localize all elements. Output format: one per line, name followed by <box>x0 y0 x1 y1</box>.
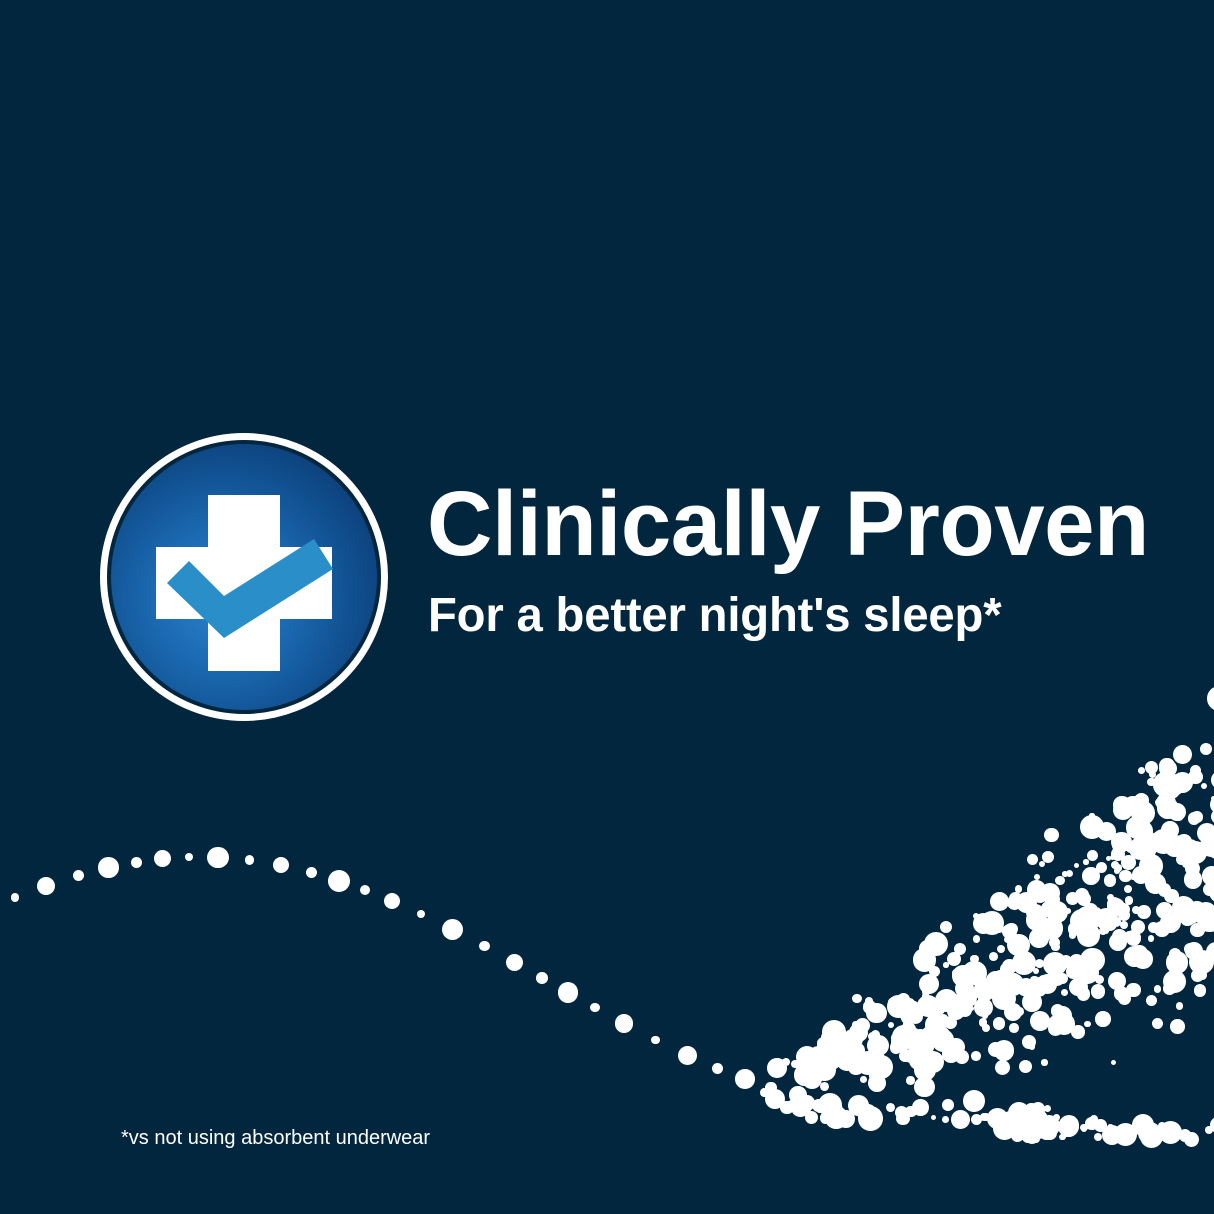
wave-dot <box>1133 872 1142 881</box>
wave-dot <box>98 857 118 877</box>
wave-dot <box>860 1076 867 1083</box>
wave-dot <box>837 1110 855 1128</box>
wave-dot <box>995 924 1004 933</box>
wave-dot <box>1004 1112 1013 1121</box>
wave-dot <box>1001 1111 1020 1130</box>
wave-dot <box>909 1035 923 1049</box>
wave-dot <box>1034 911 1043 920</box>
wave-dot <box>1173 745 1192 764</box>
page-title: Clinically Proven <box>427 478 1149 570</box>
wave-dot <box>1111 832 1131 852</box>
wave-dot <box>1048 1021 1063 1036</box>
wave-dot <box>1176 834 1192 850</box>
wave-dot <box>1088 907 1103 922</box>
wave-dot <box>1189 950 1214 975</box>
wave-dot <box>1179 1129 1191 1141</box>
wave-dot <box>946 1038 964 1056</box>
wave-dot <box>1076 961 1099 984</box>
wave-dot <box>1172 896 1195 919</box>
wave-dot <box>1128 859 1136 867</box>
wave-dot <box>678 1046 697 1065</box>
wave-dot <box>1048 1015 1066 1033</box>
wave-dot <box>1027 901 1034 908</box>
wave-dot <box>899 1000 923 1024</box>
wave-dot <box>1071 1025 1084 1038</box>
wave-dot <box>1114 1123 1137 1146</box>
wave-dot <box>888 1022 894 1028</box>
wave-dot <box>867 1035 889 1057</box>
wave-dot <box>1049 970 1065 986</box>
wave-dot <box>1126 983 1140 997</box>
wave-dot <box>1137 905 1151 919</box>
wave-dot <box>1161 821 1179 839</box>
wave-dot <box>1206 836 1214 859</box>
wave-dot <box>1041 901 1057 917</box>
wave-dot <box>1184 870 1202 888</box>
wave-dot <box>1018 984 1030 996</box>
wave-dot <box>816 1106 823 1113</box>
wave-dot <box>1041 917 1063 939</box>
wave-dot <box>857 1112 862 1117</box>
wave-dot <box>1126 930 1142 946</box>
wave-dot <box>1002 1116 1023 1137</box>
wave-dot <box>1131 820 1153 842</box>
wave-dot <box>918 1030 927 1039</box>
wave-dot <box>1094 1119 1107 1132</box>
medical-cross-check-icon <box>100 433 388 721</box>
wave-dot <box>1095 1011 1111 1027</box>
wave-dot <box>848 1042 865 1059</box>
wave-dot <box>1200 743 1212 755</box>
wave-dot <box>791 1095 812 1116</box>
wave-dot <box>1080 815 1104 839</box>
wave-dot <box>1084 1021 1091 1028</box>
wave-dot <box>922 988 930 996</box>
wave-dot <box>897 993 910 1006</box>
wave-dot <box>899 1050 911 1062</box>
wave-dot <box>984 994 990 1000</box>
wave-dot <box>989 952 998 961</box>
wave-dot <box>823 1097 832 1106</box>
wave-dot <box>1151 879 1166 894</box>
wave-dot <box>1207 686 1214 711</box>
wave-dot <box>940 921 952 933</box>
wave-dot <box>1155 798 1164 807</box>
wave-dot <box>1053 1006 1072 1025</box>
wave-dot <box>417 910 425 918</box>
wave-dot <box>976 920 981 925</box>
wave-dot <box>974 998 993 1017</box>
wave-dot <box>968 1006 974 1012</box>
wave-dot <box>995 1060 1011 1076</box>
wave-dot <box>37 877 55 895</box>
wave-dot <box>1157 798 1178 819</box>
wave-dot <box>1201 841 1213 853</box>
wave-dot <box>1201 783 1207 789</box>
wave-dot <box>1111 847 1126 862</box>
wave-dot <box>1159 1121 1182 1144</box>
wave-dot <box>952 969 961 978</box>
wave-dot <box>823 1038 842 1057</box>
wave-dot <box>1188 770 1202 784</box>
wave-dot <box>843 1029 863 1049</box>
wave-dot <box>1040 883 1060 903</box>
wave-dot <box>1168 803 1186 821</box>
wave-dot <box>1051 933 1057 939</box>
wave-dot <box>1014 941 1021 948</box>
wave-dot <box>1121 855 1136 870</box>
wave-dot <box>735 1069 755 1089</box>
wave-dot <box>1017 1118 1029 1130</box>
wave-dot <box>990 892 1009 911</box>
wave-dot <box>982 1113 990 1121</box>
wave-dot <box>1148 922 1159 933</box>
wave-dot <box>808 1061 814 1067</box>
wave-dot <box>992 970 1009 987</box>
wave-dot <box>1193 964 1200 971</box>
wave-dot <box>1014 1110 1039 1135</box>
wave-dot <box>924 932 948 956</box>
wave-dot <box>939 1014 948 1023</box>
wave-dot <box>919 940 936 957</box>
wave-dot <box>1004 936 1012 944</box>
wave-dot <box>1015 1115 1021 1121</box>
wave-dot <box>1156 902 1174 920</box>
wave-dot <box>1012 973 1018 979</box>
wave-dot <box>1177 841 1183 847</box>
wave-dot <box>1207 829 1214 849</box>
wave-dot <box>971 1051 981 1061</box>
wave-dot <box>1197 908 1214 933</box>
wave-dot <box>1030 935 1037 942</box>
wave-dot <box>1184 1132 1199 1147</box>
wave-dot <box>1156 840 1170 854</box>
wave-dot <box>958 1003 972 1017</box>
wave-dot <box>944 1016 957 1029</box>
wave-dot <box>855 1018 870 1033</box>
wave-dot <box>1082 867 1100 885</box>
wave-dot <box>877 1062 884 1069</box>
wave-dot <box>1076 906 1098 928</box>
wave-dot <box>1104 874 1116 886</box>
wave-dot <box>1145 761 1158 774</box>
wave-dot <box>1114 864 1121 871</box>
wave-dot <box>1138 767 1145 774</box>
poster-canvas: Clinically Proven For a better night's s… <box>0 0 1214 1214</box>
wave-dot <box>979 1018 987 1026</box>
wave-dot <box>1043 1126 1057 1140</box>
wave-dot <box>1080 1124 1087 1131</box>
wave-dot <box>849 1116 855 1122</box>
wave-dot <box>1195 902 1214 925</box>
wave-dot <box>1153 772 1177 796</box>
wave-dot <box>1175 813 1182 820</box>
wave-dot <box>848 1095 869 1116</box>
wave-dot <box>805 1111 818 1124</box>
wave-dot <box>801 1069 808 1076</box>
wave-dot <box>979 985 994 1000</box>
wave-dot <box>1107 897 1121 911</box>
wave-dot <box>1077 892 1091 906</box>
wave-dot <box>851 1049 863 1061</box>
wave-dot <box>974 978 996 1000</box>
wave-dot <box>1091 922 1098 929</box>
wave-dot <box>1176 854 1188 866</box>
wave-dot <box>798 1052 818 1072</box>
wave-dot <box>1002 973 1024 995</box>
wave-dot <box>794 1064 815 1085</box>
wave-dot <box>796 1046 818 1068</box>
wave-dot <box>1022 1131 1034 1143</box>
wave-dot <box>1039 861 1045 867</box>
wave-dot <box>1090 1115 1098 1123</box>
wave-dot <box>1108 972 1126 990</box>
wave-dot <box>1077 987 1091 1001</box>
wave-dot <box>1015 885 1023 893</box>
wave-dot <box>1039 918 1051 930</box>
wave-dot <box>1116 1136 1123 1143</box>
wave-dot <box>982 1024 990 1032</box>
wave-dot <box>1190 923 1205 938</box>
wave-dot <box>789 1086 807 1104</box>
wave-dot <box>980 911 1004 935</box>
wave-dot <box>932 1029 954 1051</box>
wave-dot <box>1184 943 1196 955</box>
wave-dot <box>1003 1119 1008 1124</box>
wave-dot <box>1202 866 1214 886</box>
wave-dot <box>963 1090 985 1112</box>
wave-dot <box>1206 942 1214 963</box>
wave-dot <box>1142 811 1147 816</box>
wave-dot <box>790 1096 803 1109</box>
wave-dot <box>1044 1122 1057 1135</box>
wave-dot <box>1024 1128 1031 1135</box>
wave-dot <box>849 1023 868 1042</box>
wave-dot <box>1025 1103 1037 1115</box>
wave-dot <box>1124 946 1145 967</box>
wave-dot <box>1156 793 1176 813</box>
wave-dot <box>1002 959 1017 974</box>
wave-dot <box>1083 859 1088 864</box>
wave-dot <box>904 1049 918 1063</box>
wave-dot <box>973 913 979 919</box>
wave-dot <box>1049 937 1060 948</box>
wave-dot <box>935 989 958 1012</box>
wave-dot <box>890 1041 902 1053</box>
wave-dot <box>1126 844 1135 853</box>
wave-dot <box>1081 1126 1087 1132</box>
wave-dot <box>185 853 193 861</box>
wave-dot <box>1133 949 1153 969</box>
wave-dot <box>856 1051 880 1075</box>
wave-dot <box>1021 1127 1037 1143</box>
wave-dot <box>820 1112 832 1124</box>
wave-dot <box>903 1021 908 1026</box>
wave-dot <box>1137 847 1142 852</box>
wave-dot <box>1056 973 1068 985</box>
wave-dot <box>929 1026 952 1049</box>
wave-dot <box>852 1021 859 1028</box>
wave-dot <box>852 994 861 1003</box>
wave-dot <box>925 1014 947 1036</box>
wave-dot <box>1027 1117 1035 1125</box>
wave-dot <box>896 1112 909 1125</box>
wave-dot <box>1210 1117 1214 1133</box>
wave-dot <box>1116 1127 1134 1145</box>
wave-dot <box>1143 1136 1151 1144</box>
wave-dot <box>869 1055 893 1079</box>
wave-dot <box>1113 796 1130 813</box>
wave-dot <box>1198 970 1207 979</box>
wave-dot <box>1069 954 1084 969</box>
wave-dot <box>1109 933 1127 951</box>
wave-dot <box>1209 848 1214 855</box>
wave-dot <box>1112 839 1125 852</box>
wave-dot <box>1047 1121 1055 1129</box>
wave-dot <box>1009 1023 1019 1033</box>
wave-dot <box>1136 1122 1151 1137</box>
wave-dot <box>1058 1116 1079 1137</box>
wave-dot <box>868 1032 877 1041</box>
wave-dot <box>1028 977 1048 997</box>
wave-dot <box>1012 1010 1021 1019</box>
wave-dot <box>1111 861 1120 870</box>
wave-dot <box>971 1114 982 1125</box>
wave-dot <box>886 1103 895 1112</box>
wave-dot <box>1162 773 1180 791</box>
wave-dot <box>1034 874 1040 880</box>
wave-dot <box>791 1060 799 1068</box>
wave-dot <box>931 1115 936 1120</box>
wave-dot <box>838 1034 859 1055</box>
wave-dot <box>384 893 400 909</box>
wave-dot <box>1043 952 1067 976</box>
wave-dot <box>978 996 985 1003</box>
wave-dot <box>1180 911 1195 926</box>
wave-dot <box>1164 889 1179 904</box>
wave-dot <box>1152 1018 1163 1029</box>
wave-dot <box>887 995 910 1018</box>
wave-dot <box>907 1029 921 1043</box>
wave-dot <box>1134 793 1149 808</box>
wave-dot <box>558 982 578 1002</box>
wave-dot <box>1107 894 1114 901</box>
wave-dot <box>1030 976 1038 984</box>
wave-dot <box>822 1062 830 1070</box>
wave-dot <box>830 1106 842 1118</box>
wave-dot <box>905 1106 916 1117</box>
wave-dot <box>942 1099 954 1111</box>
wave-dot <box>1182 860 1190 868</box>
wave-dot <box>842 1047 866 1071</box>
wave-dot <box>273 857 289 873</box>
wave-dot <box>1077 909 1093 925</box>
wave-dot <box>1137 839 1156 858</box>
wave-dot <box>1188 901 1206 919</box>
wave-dot <box>1098 1119 1103 1124</box>
wave-dot <box>1045 892 1060 907</box>
wave-dot <box>306 867 318 879</box>
wave-dot <box>1004 1003 1022 1021</box>
wave-dot <box>1103 917 1117 931</box>
wave-dot <box>590 1003 599 1012</box>
wave-dot <box>869 1069 881 1081</box>
wave-dot <box>1069 978 1087 996</box>
wave-dot <box>1016 892 1037 913</box>
wave-dot <box>328 870 350 892</box>
wave-dot <box>993 1017 1005 1029</box>
footnote-disclaimer: *vs not using absorbent underwear <box>121 1128 430 1148</box>
wave-dot <box>1112 929 1127 944</box>
wave-dot <box>1124 885 1132 893</box>
wave-dot <box>863 1050 886 1073</box>
wave-dot <box>1068 922 1082 936</box>
wave-dot <box>1042 907 1049 914</box>
wave-dot <box>1203 883 1214 896</box>
wave-dot <box>1146 961 1151 966</box>
wave-dot <box>1191 969 1204 982</box>
wave-dot <box>1035 959 1044 968</box>
wave-dot <box>1205 1126 1213 1134</box>
wave-dot <box>825 1106 848 1129</box>
wave-dot <box>973 913 994 934</box>
wave-dot <box>1037 979 1046 988</box>
wave-dot <box>859 1019 866 1026</box>
wave-dot <box>956 987 977 1008</box>
wave-dot <box>1002 924 1018 940</box>
wave-dot <box>1046 901 1068 923</box>
wave-dot <box>154 850 171 867</box>
wave-dot <box>1032 1123 1044 1135</box>
wave-dot <box>1053 1013 1074 1034</box>
wave-dot <box>1038 975 1049 986</box>
wave-dot <box>1096 862 1107 873</box>
wave-dot <box>1151 829 1176 854</box>
wave-dot <box>1114 986 1128 1000</box>
wave-dot <box>1155 885 1160 890</box>
wave-dot <box>788 1100 795 1107</box>
wave-dot <box>1006 1115 1028 1137</box>
wave-dot <box>1169 948 1181 960</box>
wave-dot <box>909 1033 934 1058</box>
wave-dot <box>942 1044 961 1063</box>
wave-dot <box>997 979 1009 991</box>
wave-dot <box>73 870 84 881</box>
wave-dot <box>1044 828 1059 843</box>
wave-dot <box>822 1020 846 1044</box>
wave-dot <box>919 974 939 994</box>
wave-dot <box>1130 816 1148 834</box>
wave-dot <box>1060 955 1072 967</box>
wave-dot <box>1154 985 1161 992</box>
wave-dot <box>1113 800 1133 820</box>
wave-dot <box>1158 783 1164 789</box>
wave-dot <box>813 1059 836 1082</box>
wave-dot <box>1062 1123 1076 1137</box>
wave-dot <box>1118 909 1130 921</box>
wave-dot <box>891 1033 900 1042</box>
wave-dot <box>1132 866 1150 884</box>
wave-dot <box>1051 1004 1064 1017</box>
wave-dot <box>997 1122 1004 1129</box>
wave-dot <box>1210 870 1214 881</box>
wave-dot <box>1102 1125 1122 1145</box>
wave-dot <box>1163 970 1186 993</box>
wave-dot <box>1132 1114 1154 1136</box>
wave-dot <box>1209 880 1214 903</box>
wave-dot <box>1106 856 1111 861</box>
clinically-proven-badge <box>100 433 388 721</box>
